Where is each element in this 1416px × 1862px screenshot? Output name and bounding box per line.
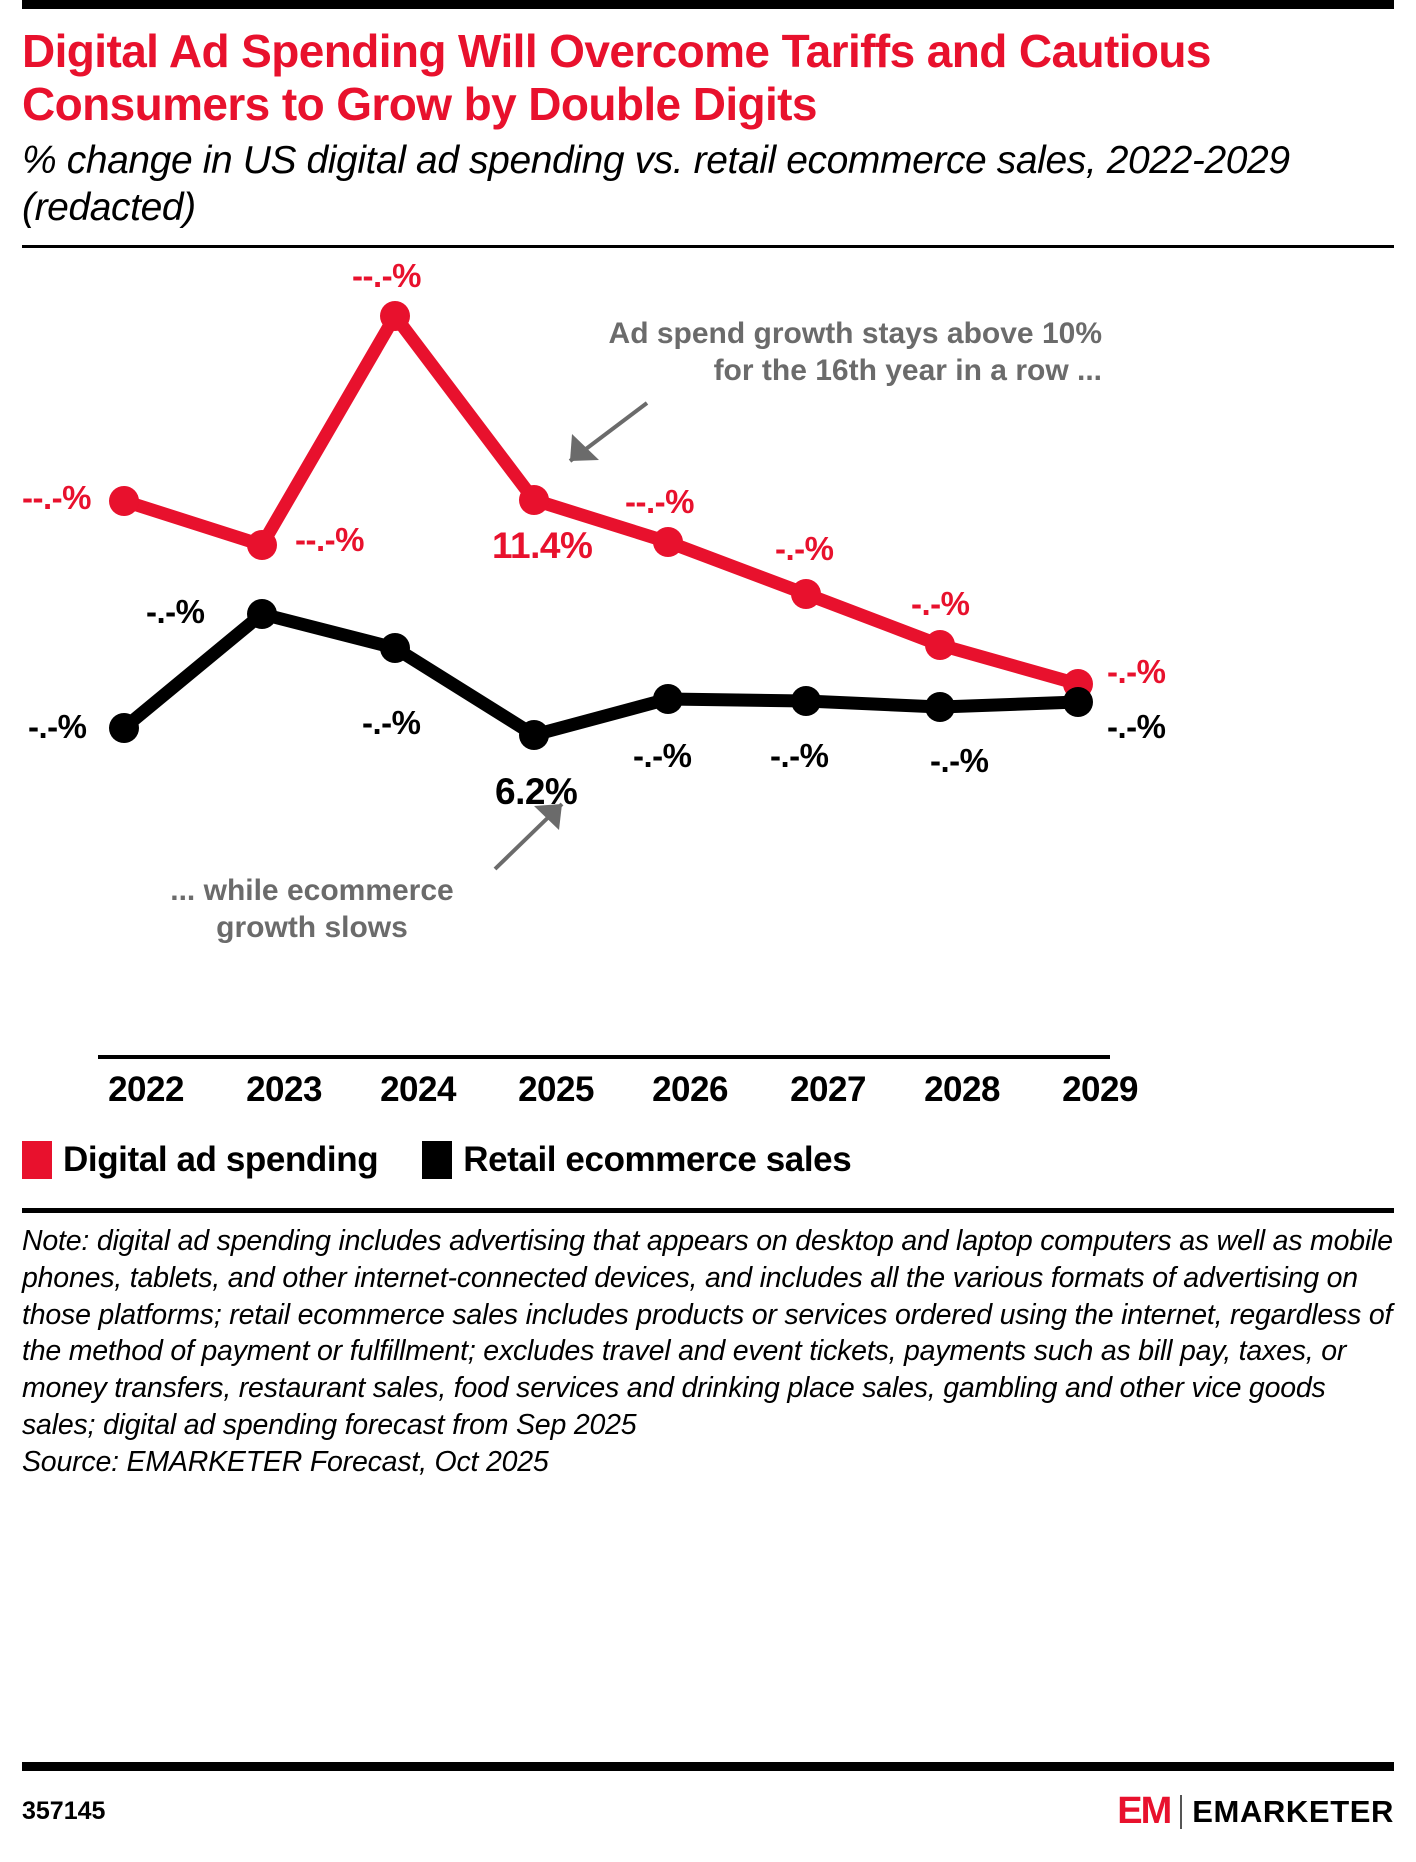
legend-swatch-black-icon	[422, 1141, 452, 1179]
footer-rule	[22, 1762, 1394, 1771]
legend-swatch-red-icon	[22, 1141, 52, 1179]
note-text: Note: digital ad spending includes adver…	[22, 1223, 1394, 1444]
x-tick-2027: 2027	[790, 1070, 866, 1110]
brand-logo: EM EMARKETER	[1117, 1790, 1394, 1833]
x-tick-2028: 2028	[924, 1070, 1000, 1110]
data-label-digital-2027: -.-%	[775, 530, 834, 568]
footer-top-rule-wrap	[22, 1762, 1394, 1771]
data-label-digital-2024: --.-%	[352, 257, 421, 295]
top-rule	[22, 0, 1394, 9]
ecommerce-annotation: ... while ecommerce growth slows	[132, 873, 492, 946]
page-title: Digital Ad Spending Will Overcome Tariff…	[22, 19, 1394, 132]
legend-item-digital-ad-spending[interactable]: Digital ad spending	[22, 1140, 378, 1180]
footer: 357145 EM EMARKETER	[22, 1790, 1394, 1833]
data-label-digital-2029: -.-%	[1107, 653, 1166, 691]
data-label-ecommerce-2026: -.-%	[633, 737, 692, 775]
data-label-ecommerce-2027: -.-%	[770, 737, 829, 775]
notes-section: Note: digital ad spending includes adver…	[22, 1208, 1394, 1480]
header: Digital Ad Spending Will Overcome Tariff…	[22, 9, 1394, 231]
ecommerce-annotation-arrow	[495, 804, 562, 869]
figure-id: 357145	[22, 1797, 105, 1826]
x-tick-2029: 2029	[1062, 1070, 1138, 1110]
data-label-ecommerce-2022: -.-%	[28, 708, 87, 746]
data-label-ecommerce-2024: -.-%	[362, 704, 421, 742]
data-label-ecommerce-2023: -.-%	[146, 593, 205, 631]
data-label-digital-2022: --.-%	[22, 479, 91, 517]
x-axis-ticks: 2022 2023 2024 2025 2026 2027 2028 2029	[22, 1070, 1394, 1120]
x-axis-line	[98, 1055, 1110, 1059]
chart-legend: Digital ad spending Retail ecommerce sal…	[22, 1140, 877, 1180]
page-subtitle: % change in US digital ad spending vs. r…	[22, 138, 1394, 232]
brand-divider	[1180, 1795, 1182, 1829]
ad-spend-annotation: Ad spend growth stays above 10% for the …	[532, 316, 1102, 389]
brand-name: EMARKETER	[1192, 1794, 1394, 1830]
ad-spend-annotation-arrow	[570, 403, 647, 461]
data-label-digital-2025: 11.4%	[492, 525, 592, 567]
legend-label-digital-ad-spending: Digital ad spending	[63, 1140, 378, 1180]
em-mark-icon: EM	[1117, 1790, 1170, 1833]
data-label-digital-2023: --.-%	[295, 521, 364, 559]
legend-item-retail-ecommerce-sales[interactable]: Retail ecommerce sales	[422, 1140, 851, 1180]
legend-label-retail-ecommerce-sales: Retail ecommerce sales	[463, 1140, 851, 1180]
data-label-ecommerce-2029: -.-%	[1107, 708, 1166, 746]
x-tick-2022: 2022	[108, 1070, 184, 1110]
x-tick-2025: 2025	[518, 1070, 594, 1110]
data-label-ecommerce-2028: -.-%	[930, 742, 989, 780]
infographic-page: Digital Ad Spending Will Overcome Tariff…	[0, 0, 1416, 1862]
data-label-digital-2028: -.-%	[911, 585, 970, 623]
data-label-ecommerce-2025: 6.2%	[495, 771, 577, 813]
x-tick-2023: 2023	[246, 1070, 322, 1110]
data-label-digital-2026: --.-%	[625, 483, 694, 521]
line-chart: --.-% --.-% --.-% 11.4% --.-% -.-% -.-% …	[22, 248, 1394, 1068]
notes-top-rule	[22, 1208, 1394, 1213]
source-text: Source: EMARKETER Forecast, Oct 2025	[22, 1444, 1394, 1481]
x-tick-2024: 2024	[380, 1070, 456, 1110]
x-tick-2026: 2026	[652, 1070, 728, 1110]
